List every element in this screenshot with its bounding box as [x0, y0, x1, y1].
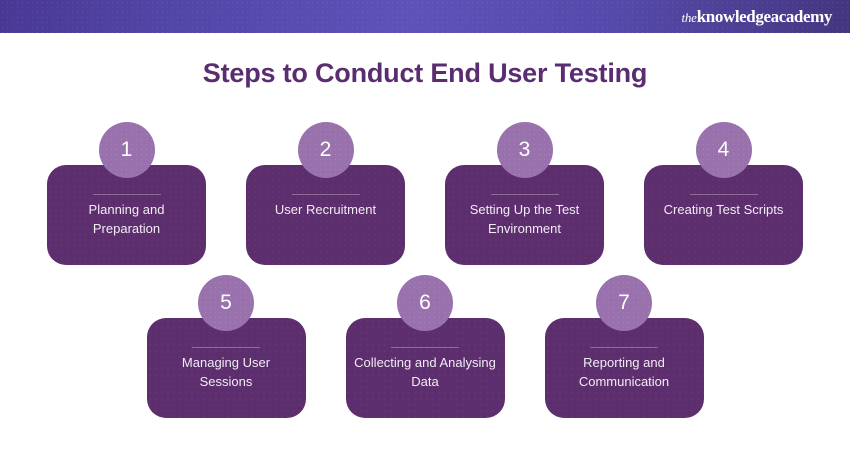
step-card-2[interactable]: 2 User Recruitment: [246, 122, 405, 265]
step-row-1: 1 Planning and Preparation 2 User Recrui…: [0, 122, 850, 265]
step-label-3: Setting Up the Test Environment: [453, 201, 596, 257]
step-number-badge-2: 2: [298, 122, 354, 178]
step-number-3: 3: [519, 138, 531, 162]
header-bar: theknowledgeacademy: [0, 0, 850, 33]
step-label-7: Reporting and Communication: [553, 354, 696, 410]
step-label-5: Managing User Sessions: [155, 354, 298, 410]
step-number-badge-4: 4: [696, 122, 752, 178]
step-card-4[interactable]: 4 Creating Test Scripts: [644, 122, 803, 265]
step-row-2: 5 Managing User Sessions 6 Collecting an…: [0, 275, 850, 418]
step-body-5: Managing User Sessions: [147, 318, 306, 418]
step-number-badge-1: 1: [99, 122, 155, 178]
step-number-6: 6: [419, 291, 431, 315]
step-card-5[interactable]: 5 Managing User Sessions: [147, 275, 306, 418]
step-divider-3: [491, 194, 559, 195]
step-divider-4: [690, 194, 758, 195]
step-label-4: Creating Test Scripts: [652, 201, 795, 257]
step-divider-5: [192, 347, 260, 348]
step-number-7: 7: [618, 291, 630, 315]
step-number-5: 5: [220, 291, 232, 315]
step-divider-7: [590, 347, 658, 348]
step-card-3[interactable]: 3 Setting Up the Test Environment: [445, 122, 604, 265]
step-label-2: User Recruitment: [254, 201, 397, 257]
brand-prefix-text: the: [681, 10, 696, 25]
step-card-7[interactable]: 7 Reporting and Communication: [545, 275, 704, 418]
page-title: Steps to Conduct End User Testing: [0, 58, 850, 89]
step-number-badge-7: 7: [596, 275, 652, 331]
step-number-4: 4: [718, 138, 730, 162]
step-label-6: Collecting and Analysing Data: [354, 354, 497, 410]
step-number-badge-6: 6: [397, 275, 453, 331]
step-card-6[interactable]: 6 Collecting and Analysing Data: [346, 275, 505, 418]
step-card-1[interactable]: 1 Planning and Preparation: [47, 122, 206, 265]
step-body-7: Reporting and Communication: [545, 318, 704, 418]
step-label-1: Planning and Preparation: [55, 201, 198, 257]
brand-logo[interactable]: theknowledgeacademy: [681, 8, 832, 26]
brand-name-text: knowledgeacademy: [697, 7, 832, 26]
step-divider-6: [391, 347, 459, 348]
step-body-3: Setting Up the Test Environment: [445, 165, 604, 265]
step-body-4: Creating Test Scripts: [644, 165, 803, 265]
step-divider-1: [93, 194, 161, 195]
step-number-badge-5: 5: [198, 275, 254, 331]
step-divider-2: [292, 194, 360, 195]
step-number-2: 2: [320, 138, 332, 162]
step-body-2: User Recruitment: [246, 165, 405, 265]
step-number-badge-3: 3: [497, 122, 553, 178]
step-body-1: Planning and Preparation: [47, 165, 206, 265]
step-body-6: Collecting and Analysing Data: [346, 318, 505, 418]
step-number-1: 1: [121, 138, 133, 162]
